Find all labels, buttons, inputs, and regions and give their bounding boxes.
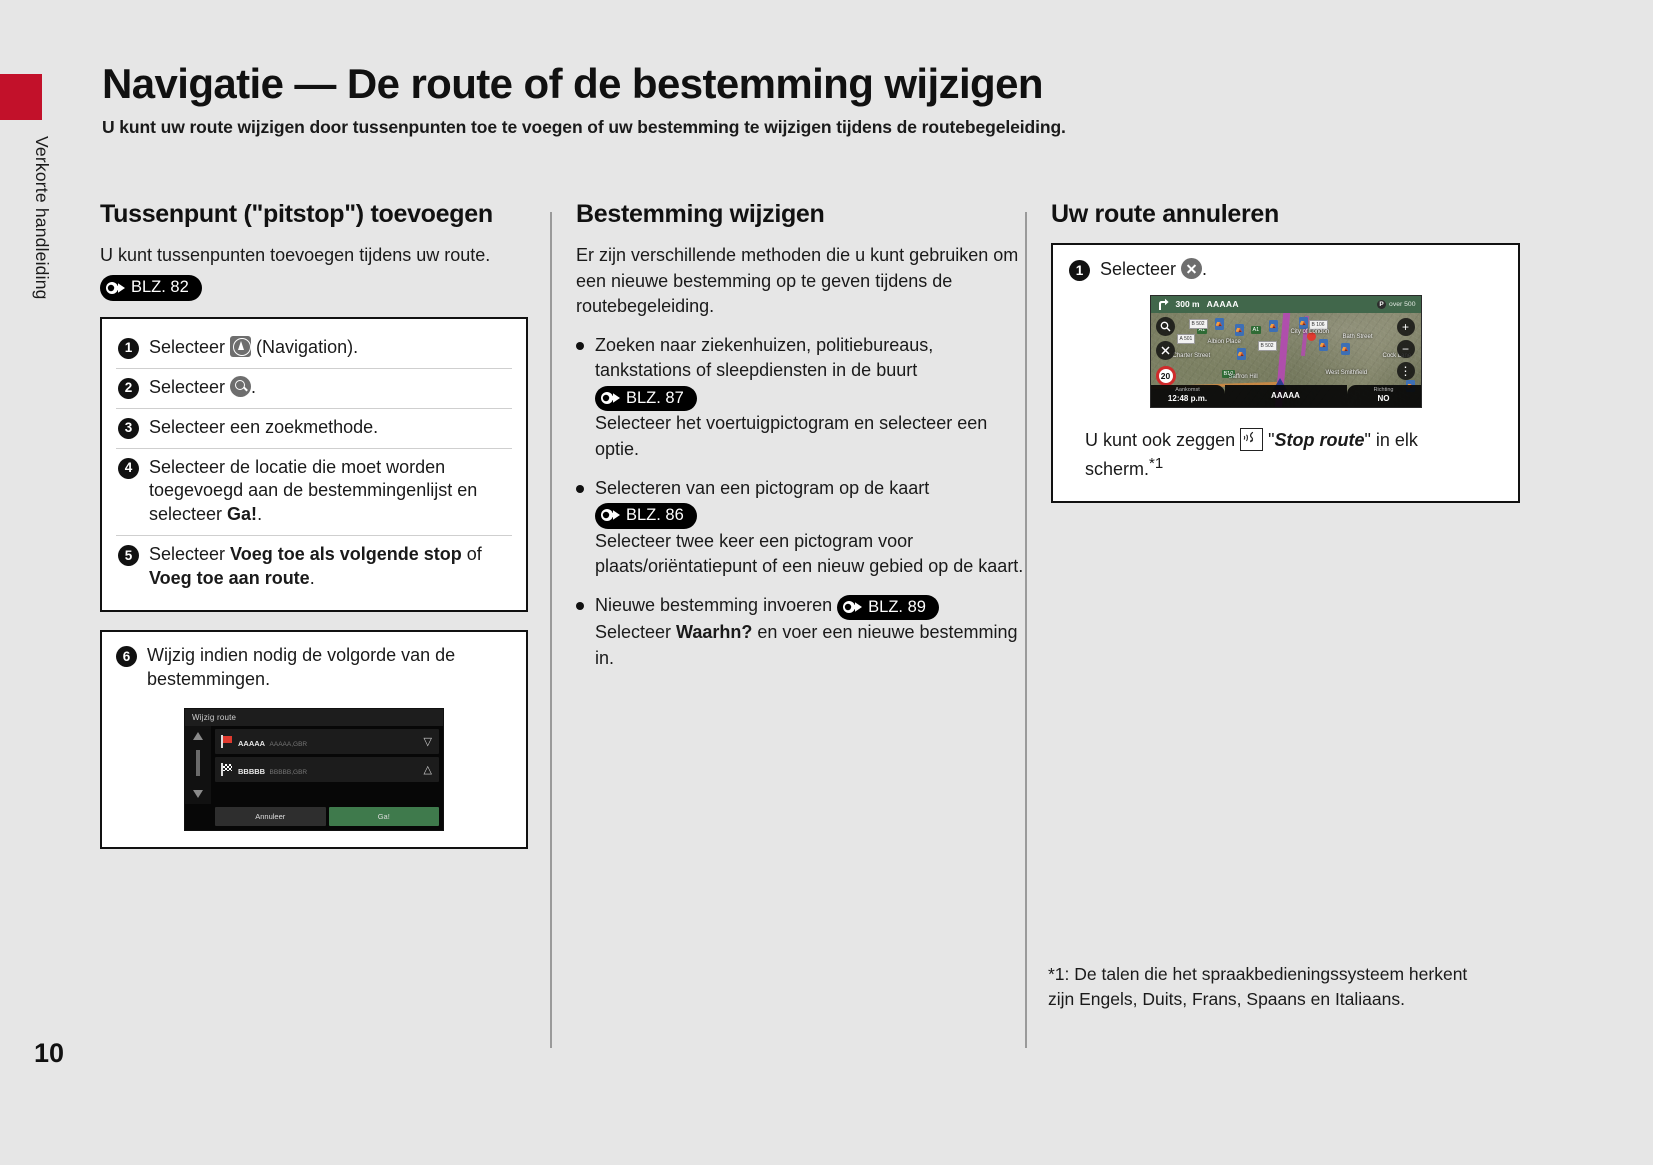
red-flag-icon [220, 735, 233, 748]
direction-value: NO [1378, 394, 1390, 404]
destination-info[interactable]: AAAAA [1225, 385, 1347, 407]
note-quote: Stop route [1275, 430, 1365, 450]
destination-value: AAAAA [1271, 391, 1300, 401]
street-label: West Smithfield [1326, 370, 1368, 376]
scroll-down-icon[interactable] [193, 790, 203, 798]
section-intro-change-destination: Er zijn verschillende methoden die u kun… [576, 243, 1025, 320]
search-icon [230, 376, 251, 397]
list-item-sub: BBBBB,GBR [270, 769, 308, 776]
page-reference-label: BLZ. 89 [868, 596, 926, 618]
list-item-name: AAAAA [238, 739, 265, 748]
step-number: 6 [116, 646, 137, 667]
step-text-post: . [251, 377, 256, 397]
step-number: 4 [118, 458, 139, 479]
arrow-right-icon [843, 600, 865, 614]
map-search-button[interactable] [1156, 317, 1175, 336]
map-zoom-in-button[interactable]: + [1397, 318, 1415, 336]
scrollbar[interactable] [185, 726, 211, 804]
note-pre: U kunt ook zeggen [1085, 430, 1240, 450]
parking-indicator[interactable]: P over 500 [1377, 300, 1415, 309]
step-number: 5 [118, 545, 139, 566]
road-shield: A1 [1251, 326, 1262, 334]
bullet-detail-bold: Waarhn? [676, 622, 752, 642]
section-title-cancel-route: Uw route annuleren [1051, 200, 1520, 229]
arrival-info[interactable]: Aankomst 12:48 p.m. [1151, 385, 1225, 407]
step-text: Selecteer Voeg toe als volgende stop of … [149, 543, 510, 591]
bullet-dot-icon [576, 342, 584, 350]
arrow-right-icon [106, 281, 128, 295]
step-text: Selecteer . [1100, 258, 1502, 282]
edit-route-body: AAAAA AAAAA,GBR ▽ BBBBB BBBBB,GBR [185, 726, 443, 804]
poi-icon[interactable]: ⛺ [1299, 317, 1308, 329]
step-text-pre: Selecteer [149, 377, 230, 397]
list-item-name: BBBBB [238, 767, 265, 776]
content-columns: Tussenpunt ("pitstop") toevoegen U kunt … [100, 200, 1520, 1060]
step-row: 1 Selecteer (Navigation). [116, 329, 512, 369]
edit-route-screenshot: Wijzig route AAAAA A [184, 708, 444, 831]
step-text: Selecteer de locatie die moet worden toe… [149, 456, 510, 528]
voice-command-note: U kunt ook zeggen "Stop route" in elk sc… [1085, 428, 1486, 483]
street-label: Saffron Hill [1229, 374, 1258, 380]
voice-command-icon [1240, 428, 1263, 451]
destination-list: AAAAA AAAAA,GBR ▽ BBBBB BBBBB,GBR [211, 726, 443, 804]
checkered-flag-icon [220, 763, 233, 776]
step-text-post: . [1202, 259, 1207, 279]
map-cancel-route-button[interactable] [1156, 341, 1175, 360]
step-text-pre: Selecteer [149, 337, 230, 357]
go-button[interactable]: Ga! [329, 807, 440, 826]
street-label: Charter Street [1173, 353, 1211, 359]
note-quote-open: " [1263, 430, 1274, 450]
cancel-route-panel: 1 Selecteer . ⛺ ⛺ ⛺ ⛺ ⛺ ⛺ [1051, 243, 1520, 503]
column-cancel-route: Uw route annuleren 1 Selecteer . ⛺ ⛺ [1025, 200, 1520, 1060]
page-reference-label: BLZ. 87 [626, 387, 684, 409]
bullet-body: Zoeken naar ziekenhuizen, politiebureaus… [595, 333, 1025, 463]
page-number: 10 [34, 1038, 64, 1069]
bullet-dot-icon [576, 602, 584, 610]
chapter-spine-label: Verkorte handleiding [28, 136, 52, 396]
navigation-map-screenshot: ⛺ ⛺ ⛺ ⛺ ⛺ ⛺ ⛺ ⛺ A1 A1 B10 B 502 B 502 B … [1150, 295, 1422, 408]
step-text-pre: Selecteer de locatie die moet worden toe… [149, 457, 477, 525]
step-text-post: . [310, 568, 315, 588]
page-reference-link[interactable]: BLZ. 89 [837, 595, 939, 620]
bullet-body: Nieuwe bestemming invoeren BLZ. 89 Selec… [595, 593, 1025, 672]
parking-icon: P [1377, 300, 1386, 309]
list-item-text: BBBBB BBBBB,GBR [238, 761, 419, 779]
direction-info[interactable]: Richting NO [1347, 385, 1421, 407]
edit-route-screen-title: Wijzig route [185, 709, 443, 726]
section-title-add-waypoint: Tussenpunt ("pitstop") toevoegen [100, 200, 528, 229]
step-row: 6 Wijzig indien nodig de volgorde van de… [116, 644, 512, 692]
step-number: 1 [1069, 260, 1090, 281]
list-item[interactable]: AAAAA AAAAA,GBR ▽ [215, 729, 439, 754]
step-text: Selecteer (Navigation). [149, 336, 510, 360]
manual-page: Verkorte handleiding Navigatie — De rout… [0, 0, 1653, 1165]
step-text-post: (Navigation). [251, 337, 358, 357]
poi-icon[interactable]: ⛺ [1235, 324, 1244, 336]
turn-right-icon [1156, 298, 1169, 311]
section-title-change-destination: Bestemming wijzigen [576, 200, 1025, 229]
page-reference-link[interactable]: BLZ. 87 [595, 386, 697, 411]
reorder-down-icon[interactable]: ▽ [424, 735, 434, 748]
page-footnote: *1: De talen die het spraakbedieningssys… [1048, 962, 1478, 1013]
road-label: B 502 [1189, 319, 1208, 329]
page-title: Navigatie — De route of de bestemming wi… [102, 62, 1522, 106]
column-add-waypoint: Tussenpunt ("pitstop") toevoegen U kunt … [100, 200, 550, 1060]
bullet-item: Zoeken naar ziekenhuizen, politiebureaus… [576, 333, 1025, 463]
step-number: 2 [118, 378, 139, 399]
street-label: Albion Place [1208, 339, 1241, 345]
map-guidance-bar: 300 m AAAAA P over 500 [1151, 296, 1421, 313]
poi-icon[interactable]: ⛺ [1215, 318, 1224, 330]
step-text: Wijzig indien nodig de volgorde van de b… [147, 644, 512, 692]
step-number: 1 [118, 338, 139, 359]
scroll-up-icon[interactable] [193, 732, 203, 740]
map-status-bar: Aankomst 12:48 p.m. AAAAA Richting NO [1151, 385, 1421, 407]
section-intro-add-waypoint: U kunt tussenpunten toevoegen tijdens uw… [100, 243, 528, 301]
list-item-text: AAAAA AAAAA,GBR [238, 733, 419, 751]
street-label: Bath Street [1343, 334, 1373, 340]
road-label: A 501 [1177, 334, 1196, 344]
navigation-icon [230, 336, 251, 357]
poi-icon[interactable]: ⛺ [1237, 348, 1246, 360]
edit-route-buttons: Annuleer Ga! [185, 804, 443, 830]
step-text-bold2: Voeg toe aan route [149, 568, 310, 588]
step-text-bold: Ga! [227, 504, 257, 524]
page-header: Navigatie — De route of de bestemming wi… [102, 62, 1522, 138]
bullet-body: Selecteren van een pictogram op de kaart… [595, 476, 1025, 580]
note-footmark: *1 [1149, 455, 1163, 472]
next-street-name: AAAAA [1207, 299, 1239, 309]
arrival-label: Aankomst [1175, 387, 1199, 394]
intro-text: U kunt tussenpunten toevoegen tijdens uw… [100, 245, 490, 265]
step-row: 1 Selecteer . [1069, 258, 1502, 282]
turn-distance: 300 m [1176, 299, 1200, 309]
page-reference-link[interactable]: BLZ. 86 [595, 503, 697, 528]
poi-icon[interactable]: ⛺ [1319, 339, 1328, 351]
column-divider [550, 212, 552, 1048]
map-more-options-button[interactable]: ⋮ [1397, 362, 1415, 380]
speed-limit-sign: 20 [1156, 366, 1176, 386]
step-text: Selecteer een zoekmethode. [149, 416, 510, 440]
step-text-bold: Voeg toe als volgende stop [230, 544, 462, 564]
column-divider [1025, 212, 1027, 1048]
reorder-up-icon[interactable]: △ [424, 763, 434, 776]
street-label: City of London [1291, 329, 1330, 335]
steps-panel-6: 6 Wijzig indien nodig de volgorde van de… [100, 630, 528, 849]
bullet-text: Zoeken naar ziekenhuizen, politiebureaus… [595, 335, 933, 381]
cancel-button[interactable]: Annuleer [215, 807, 326, 826]
bullet-detail: Selecteer twee keer een pictogram voor p… [595, 531, 1023, 577]
list-item[interactable]: BBBBB BBBBB,GBR △ [215, 757, 439, 782]
scroll-thumb[interactable] [196, 750, 200, 776]
step-text-pre: Selecteer [1100, 259, 1181, 279]
step-row: 5 Selecteer Voeg toe als volgende stop o… [116, 536, 512, 599]
parking-distance: over 500 [1389, 301, 1415, 308]
poi-icon[interactable]: ⛺ [1269, 320, 1278, 332]
step-text-mid: of [462, 544, 482, 564]
bullet-item: Selecteren van een pictogram op de kaart… [576, 476, 1025, 580]
bullet-text: Nieuwe bestemming invoeren [595, 595, 832, 615]
step-text: Selecteer . [149, 376, 510, 400]
bullet-dot-icon [576, 485, 584, 493]
road-label: B 502 [1258, 341, 1277, 351]
bullet-detail-pre: Selecteer [595, 622, 676, 642]
map-zoom-out-button[interactable]: − [1397, 340, 1415, 358]
bullet-text: Selecteren van een pictogram op de kaart [595, 478, 929, 498]
column-change-destination: Bestemming wijzigen Er zijn verschillend… [550, 200, 1025, 1060]
direction-label: Richting [1374, 387, 1394, 394]
step-row: 4 Selecteer de locatie die moet worden t… [116, 449, 512, 537]
step-row: 2 Selecteer . [116, 369, 512, 409]
step-text-pre: Selecteer [149, 544, 230, 564]
cancel-icon [1181, 258, 1202, 279]
step-row: 3 Selecteer een zoekmethode. [116, 409, 512, 449]
steps-panel-1-5: 1 Selecteer (Navigation). 2 Selecteer . … [100, 317, 528, 613]
page-reference-label: BLZ. 82 [131, 276, 189, 298]
step-number: 3 [118, 418, 139, 439]
arrow-right-icon [601, 391, 623, 405]
arrow-right-icon [601, 508, 623, 522]
page-reference-link[interactable]: BLZ. 82 [100, 275, 202, 300]
step-text-post: . [257, 504, 262, 524]
page-subtitle: U kunt uw route wijzigen door tussenpunt… [102, 117, 1522, 138]
poi-icon[interactable]: ⛺ [1341, 343, 1350, 355]
arrival-value: 12:48 p.m. [1168, 394, 1207, 404]
list-item-sub: AAAAA,GBR [270, 741, 308, 748]
bullet-detail: Selecteer het voertuigpictogram en selec… [595, 413, 987, 459]
page-reference-label: BLZ. 86 [626, 504, 684, 526]
chapter-tab-marker [0, 74, 42, 120]
bullet-item: Nieuwe bestemming invoeren BLZ. 89 Selec… [576, 593, 1025, 672]
